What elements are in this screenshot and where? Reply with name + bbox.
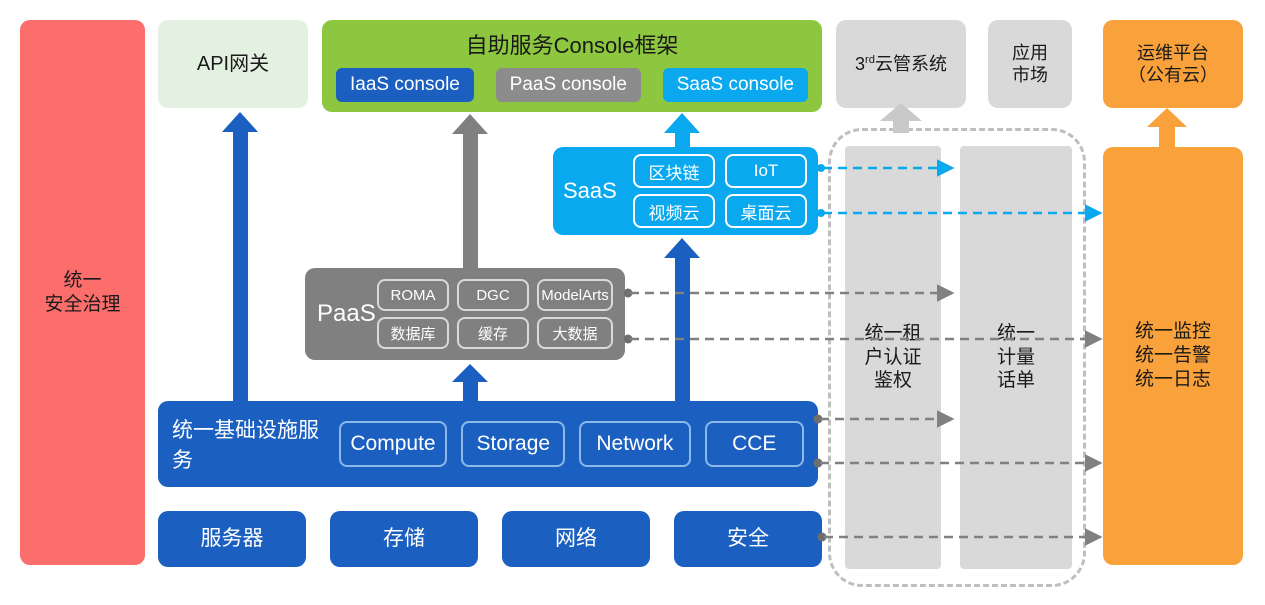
arrow-up-icon-saas-to-console (664, 113, 700, 151)
app-market-line-2: 市场 (1012, 64, 1048, 87)
saas-panel: SaaS 区块链 IoT 视频云 桌面云 (553, 147, 818, 235)
paas-console-chip[interactable]: PaaS console (496, 68, 641, 102)
saas-chip-label: IoT (754, 161, 779, 181)
paas-chip-label: 大数据 (552, 323, 597, 344)
base-layer-label: 安全 (727, 526, 769, 552)
arrow-up-icon-iaas-to-saas (664, 238, 700, 405)
iaas-label: 统一基础设施服务 (172, 414, 325, 474)
saas-chip-blockchain[interactable]: 区块链 (633, 154, 715, 188)
base-layer-label: 存储 (383, 526, 425, 552)
unified-monitoring-column: 统一监控 统一告警 统一日志 (1103, 147, 1243, 565)
iaas-chip-storage[interactable]: Storage (461, 421, 565, 467)
billing-line-2: 计量 (997, 346, 1035, 370)
auth-line-2: 户认证 (864, 346, 921, 370)
base-layer-network[interactable]: 网络 (502, 511, 650, 567)
arrow-up-icon-iaas-to-paas (452, 364, 488, 404)
iaas-chip-cce[interactable]: CCE (705, 421, 804, 467)
arrow-up-icon-paas-to-console (452, 114, 488, 270)
paas-chip-label: 缓存 (478, 323, 508, 344)
iaas-console-chip[interactable]: IaaS console (336, 68, 474, 102)
paas-console-label: PaaS console (510, 74, 627, 96)
third-party-superscript: rd (865, 54, 875, 66)
self-service-console-framework: 自助服务Console框架 IaaS console PaaS console … (322, 20, 822, 112)
saas-chip-video-cloud[interactable]: 视频云 (633, 194, 715, 228)
paas-chip-label: ModelArts (541, 287, 609, 304)
ops-column-line-1: 统一监控 (1135, 320, 1211, 344)
saas-label: SaaS (563, 178, 633, 204)
ops-platform-line-1: 运维平台 (1137, 42, 1209, 65)
iaas-console-label: IaaS console (350, 74, 460, 96)
auth-line-1: 统一租 (864, 322, 921, 346)
base-layer-server[interactable]: 服务器 (158, 511, 306, 567)
paas-chip-label: ROMA (391, 287, 436, 304)
third-party-cloud-mgmt-box[interactable]: 3rd云管系统 (836, 20, 966, 108)
billing-line-1: 统一 (997, 322, 1035, 346)
security-line-2: 安全治理 (44, 293, 120, 317)
app-market-box[interactable]: 应用 市场 (988, 20, 1072, 108)
saas-chip-label: 桌面云 (741, 199, 792, 224)
iaas-chip-label: CCE (732, 432, 776, 456)
billing-line-3: 话单 (997, 369, 1035, 393)
unified-infrastructure-service-bar: 统一基础设施服务 Compute Storage Network CCE (158, 401, 818, 487)
console-framework-title: 自助服务Console框架 (336, 28, 808, 60)
saas-chip-label: 区块链 (649, 159, 700, 184)
ops-column-line-2: 统一告警 (1135, 344, 1211, 368)
iaas-chip-label: Network (596, 432, 673, 456)
base-layer-security[interactable]: 安全 (674, 511, 822, 567)
saas-chip-iot[interactable]: IoT (725, 154, 807, 188)
base-layer-label: 网络 (555, 526, 597, 552)
paas-chip-roma[interactable]: ROMA (377, 279, 449, 311)
paas-panel: PaaS ROMA DGC ModelArts 数据库 缓存 大数据 (305, 268, 625, 360)
iaas-chip-label: Compute (350, 432, 435, 456)
app-market-line-1: 应用 (1012, 42, 1048, 65)
third-party-label: 3rd云管系统 (855, 53, 947, 76)
saas-chip-desktop-cloud[interactable]: 桌面云 (725, 194, 807, 228)
saas-console-chip[interactable]: SaaS console (663, 68, 808, 102)
unified-tenant-auth-column: 统一租 户认证 鉴权 (845, 146, 941, 569)
paas-label: PaaS (317, 300, 377, 328)
saas-chip-label: 视频云 (649, 199, 700, 224)
paas-chip-dgc[interactable]: DGC (457, 279, 529, 311)
ops-platform-line-2: （公有云） (1128, 64, 1218, 87)
paas-chip-cache[interactable]: 缓存 (457, 317, 529, 349)
arrow-up-icon-ops-column-to-ops-platform (1147, 108, 1187, 149)
base-layer-storage[interactable]: 存储 (330, 511, 478, 567)
ops-column-line-3: 统一日志 (1135, 368, 1211, 392)
saas-console-label: SaaS console (677, 74, 794, 96)
paas-chip-database[interactable]: 数据库 (377, 317, 449, 349)
unified-metering-billing-column: 统一 计量 话单 (960, 146, 1072, 569)
paas-chip-label: DGC (476, 287, 509, 304)
iaas-chip-compute[interactable]: Compute (339, 421, 448, 467)
paas-chip-modelarts[interactable]: ModelArts (537, 279, 613, 311)
iaas-chip-label: Storage (477, 432, 551, 456)
unified-security-governance-panel: 统一 安全治理 (20, 20, 145, 565)
security-line-1: 统一 (63, 269, 101, 293)
ops-platform-public-cloud-box[interactable]: 运维平台 （公有云） (1103, 20, 1243, 108)
iaas-chip-network[interactable]: Network (579, 421, 690, 467)
api-gateway-box[interactable]: API网关 (158, 20, 308, 108)
paas-chip-label: 数据库 (390, 323, 435, 344)
paas-chip-bigdata[interactable]: 大数据 (537, 317, 613, 349)
base-layer-label: 服务器 (201, 526, 264, 552)
api-gateway-label: API网关 (197, 52, 269, 77)
arrow-up-icon-iaas-to-apigw (222, 112, 258, 402)
auth-line-3: 鉴权 (874, 369, 912, 393)
